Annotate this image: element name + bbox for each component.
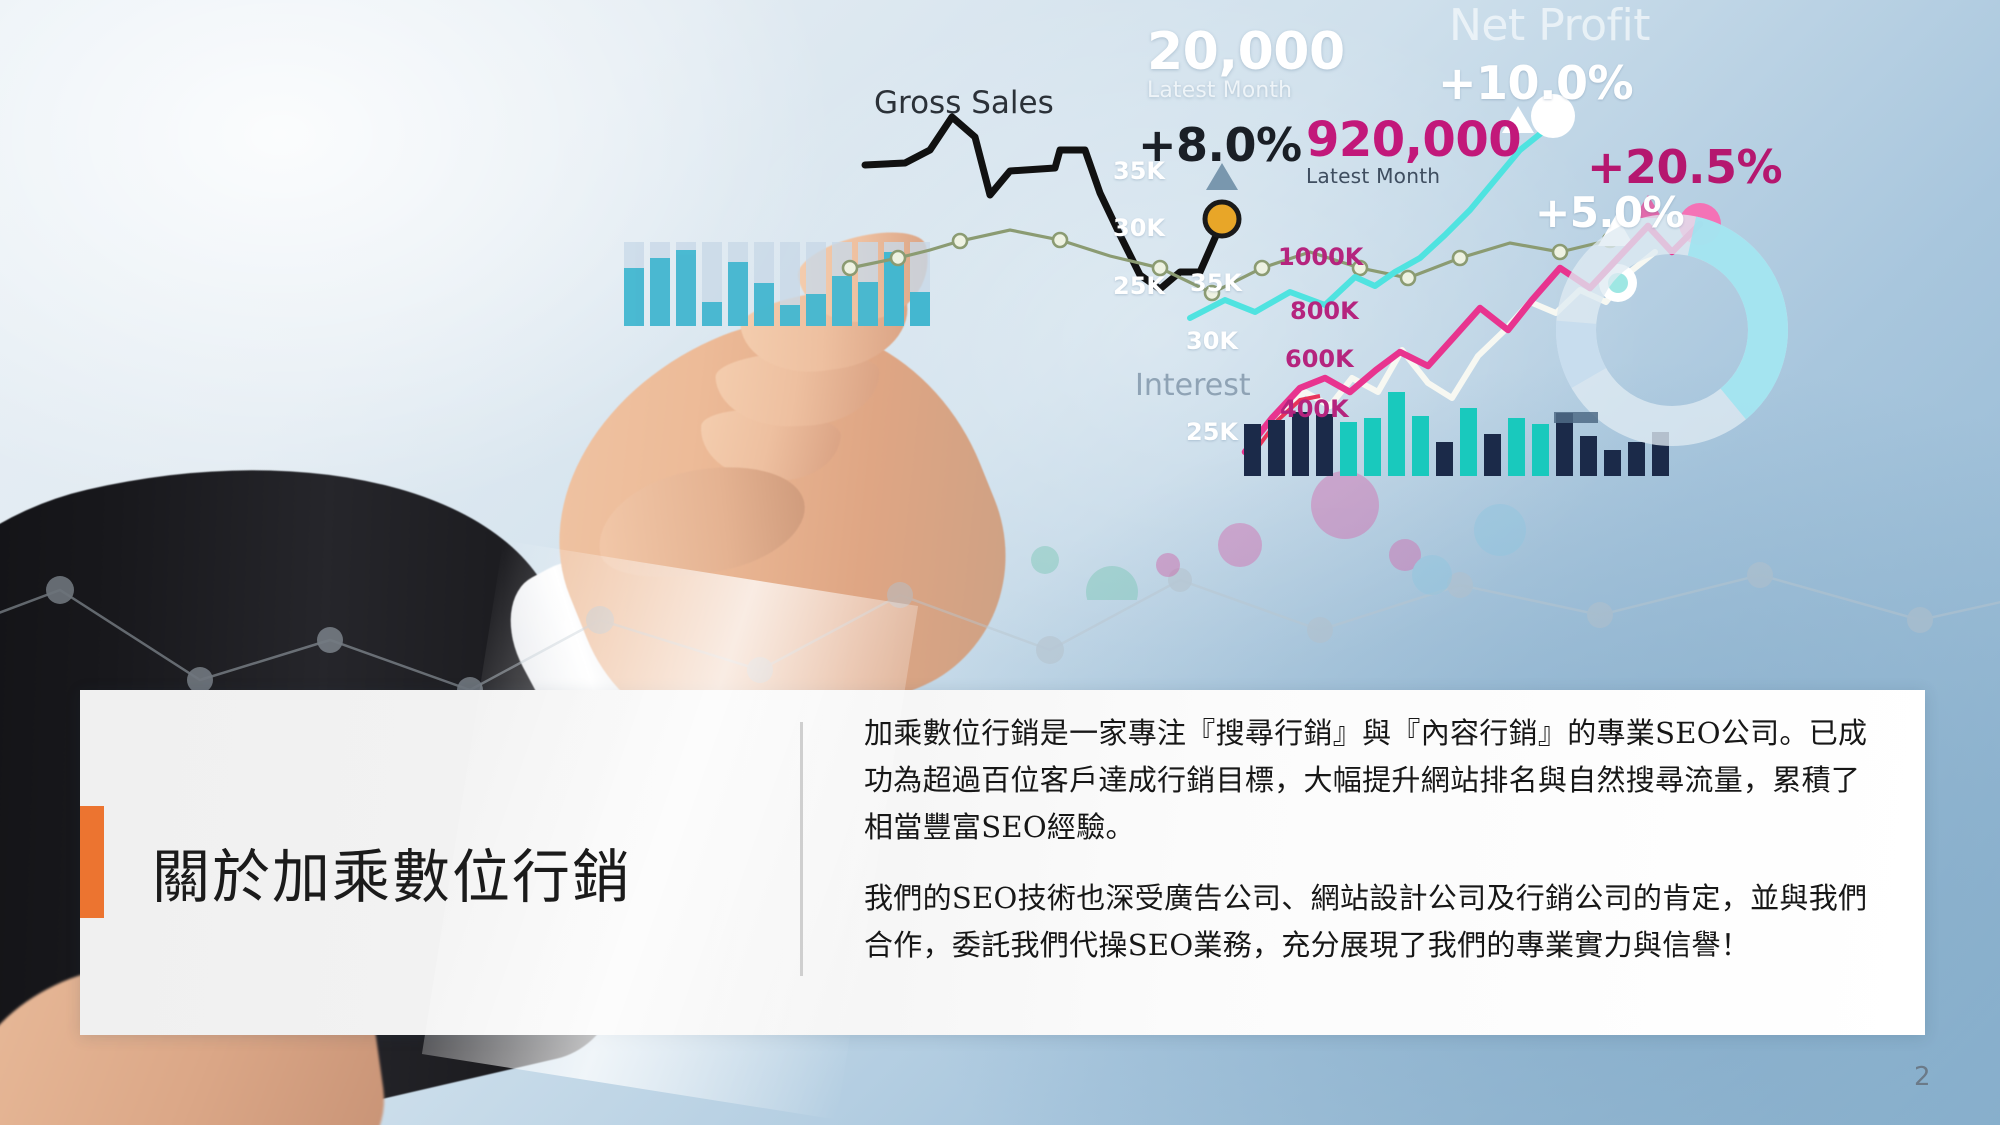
- slide-canvas: 20,000 Latest Month +8.0% 920,000 Latest…: [0, 0, 2000, 1125]
- kpi-net-profit-change: +10.0%: [1438, 56, 1633, 110]
- label-gross-sales-series: Gross Sales: [874, 85, 1054, 121]
- axis-tick-25k-b: 25K: [1186, 418, 1238, 446]
- kpi-gross-sales-latest: 20,000 Latest Month: [1147, 22, 1345, 103]
- page-number: 2: [1914, 1062, 1931, 1092]
- axis-tick-25k-a: 25K: [1113, 272, 1165, 300]
- axis-tick-35k-b: 35K: [1190, 269, 1242, 297]
- axis-tick-800k: 800K: [1290, 297, 1359, 325]
- axis-tick-30k-a: 30K: [1113, 214, 1165, 242]
- gold-data-point-marker: [1205, 202, 1239, 236]
- vertical-divider: [800, 722, 803, 976]
- axis-tick-1000k: 1000K: [1278, 243, 1363, 271]
- axis-tick-30k-b: 30K: [1186, 327, 1238, 355]
- donut-chart: [1541, 199, 1803, 461]
- label-interest-series: Interest: [1135, 368, 1251, 403]
- kpi-net-profit-label: Net Profit: [1449, 0, 1650, 51]
- light-blue-bar-chart: [624, 242, 930, 326]
- body-paragraph-2: 我們的SEO技術也深受廣告公司、網站設計公司及行銷公司的肯定，並與我們合作，委託…: [864, 875, 1874, 969]
- kpi-growth-change: +20.5%: [1587, 140, 1782, 194]
- kpi-gross-sales-value: 20,000: [1147, 22, 1345, 82]
- axis-tick-400k: 400K: [1280, 395, 1349, 423]
- orange-accent-bar: [80, 806, 104, 918]
- body-paragraph-1: 加乘數位行銷是一家專注『搜尋行銷』與『內容行銷』的專業SEO公司。已成功為超過百…: [864, 710, 1874, 851]
- axis-tick-600k: 600K: [1285, 345, 1354, 373]
- page-title: 關於加乘數位行銷: [152, 841, 792, 914]
- content-card: 關於加乘數位行銷 加乘數位行銷是一家專注『搜尋行銷』與『內容行銷』的專業SEO公…: [80, 690, 1925, 1035]
- axis-tick-35k-a: 35K: [1113, 157, 1165, 185]
- kpi-interest-change: +5.0%: [1535, 188, 1684, 237]
- kpi-revenue-latest: 920,000 Latest Month: [1306, 112, 1521, 188]
- kpi-revenue-value: 920,000: [1306, 112, 1521, 168]
- body-text-column: 加乘數位行銷是一家專注『搜尋行銷』與『內容行銷』的專業SEO公司。已成功為超過百…: [864, 710, 1874, 969]
